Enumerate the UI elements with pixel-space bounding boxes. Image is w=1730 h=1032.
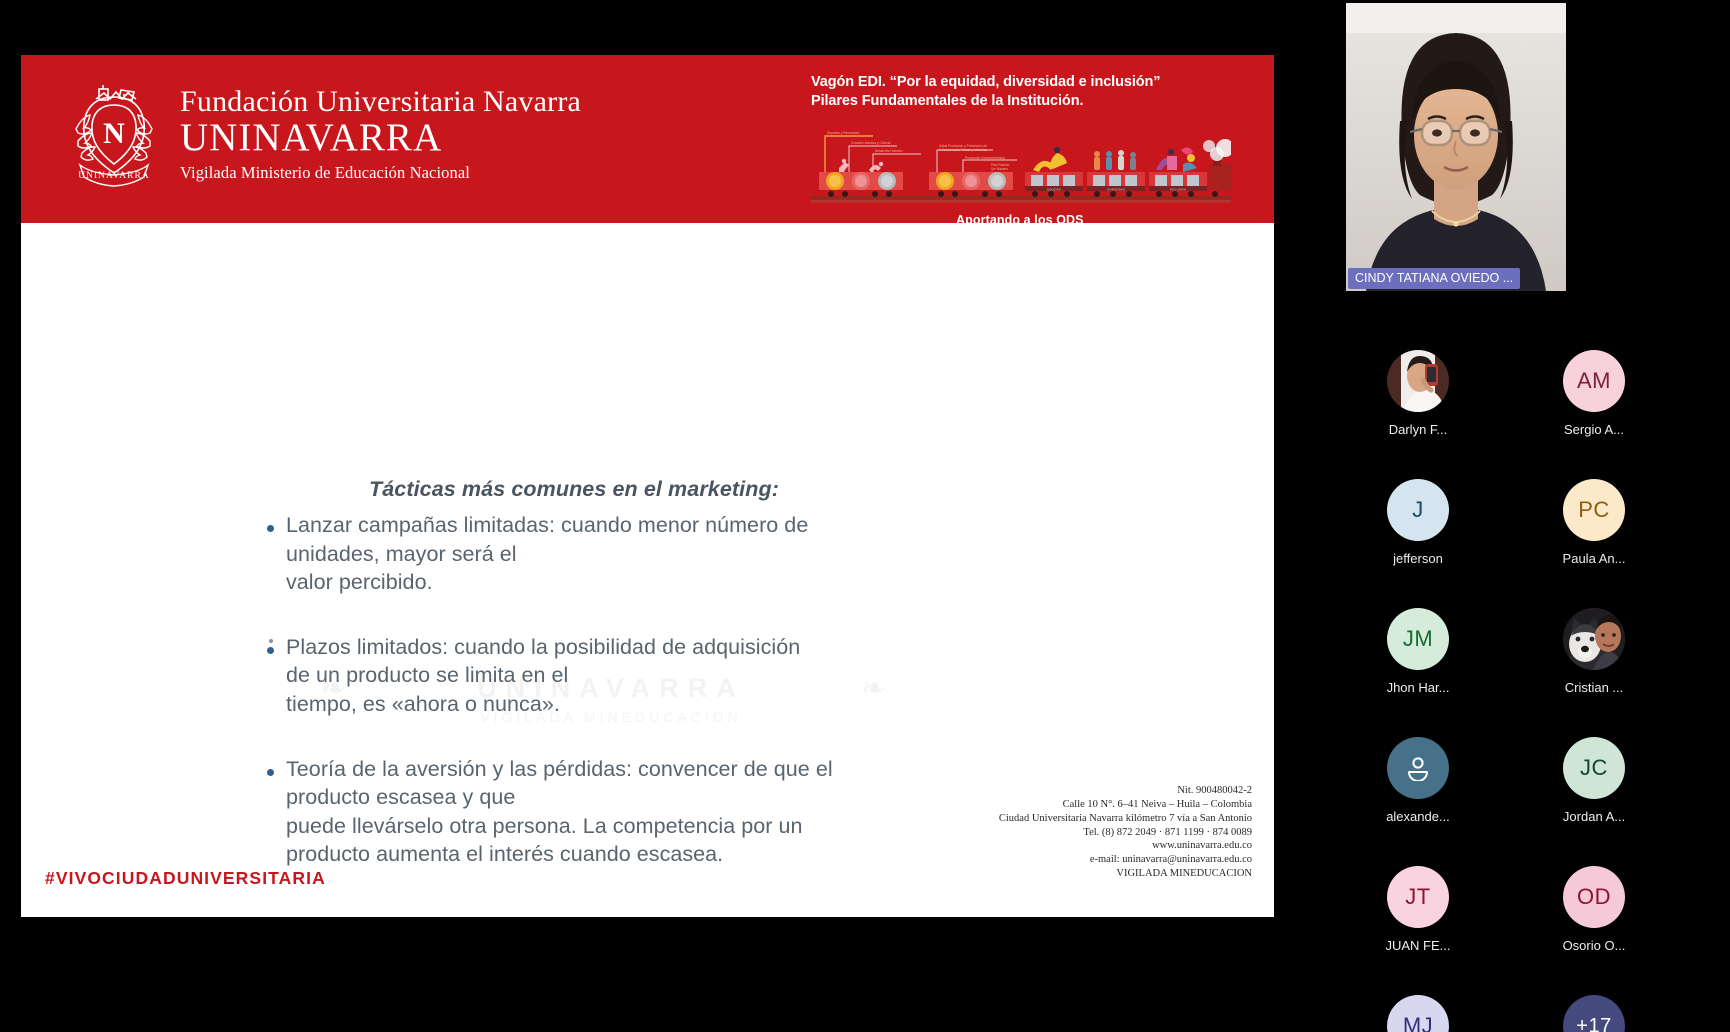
ods-label: Aportando a los ODS (956, 213, 1084, 223)
avatar-initials: MJ (1403, 1013, 1433, 1032)
participant-tile-jhon[interactable]: JM Jhon Har... (1356, 608, 1480, 695)
bullet-item: Lanzar campañas limitadas: cuando menor … (267, 511, 1167, 597)
bullet-line: tiempo, es «ahora o nunca». (286, 690, 800, 719)
participant-tile-juan[interactable]: JT JUAN FE... (1356, 866, 1480, 953)
active-speaker-tile[interactable] (1346, 3, 1566, 291)
avatar: JC (1563, 737, 1625, 799)
svg-text:Promoción Socioeconómica: Promoción Socioeconómica (965, 156, 1005, 160)
participant-tile-mosquera[interactable]: MJ Mosquer... (1356, 995, 1480, 1032)
avatar (1563, 608, 1625, 670)
participant-name: Osorio O... (1563, 938, 1626, 953)
participant-tile-alexander[interactable]: alexande... (1356, 737, 1480, 824)
participant-tile-jefferson[interactable]: J jefferson (1356, 479, 1480, 566)
participants-grid: Darlyn F... AM Sergio A... J jefferson P… (1356, 350, 1656, 1032)
svg-text:INCLUSIÓN: INCLUSIÓN (1170, 186, 1186, 191)
brand-text: Fundación Universitaria Navarra UNINAVAR… (180, 87, 581, 183)
avatar-initials: JM (1403, 626, 1433, 652)
shared-slide[interactable]: N UNINAVARRA Funda (21, 55, 1274, 917)
avatar: OD (1563, 866, 1625, 928)
footer-line: VIGILADA MINEDUCACION (999, 867, 1252, 881)
svg-text:Desarrollo Humano: Desarrollo Humano (875, 149, 903, 153)
bullet-line: Lanzar campañas limitadas: cuando menor … (286, 511, 808, 540)
avatar (1387, 737, 1449, 799)
crest-ribbon-label: UNINAVARRA (78, 171, 149, 181)
footer-line: Tel. (8) 872 2049 · 871 1199 · 874 0089 (999, 826, 1252, 840)
watermark-wing-left-icon: ❧ (321, 671, 346, 706)
participant-tile-cristian[interactable]: Cristian ... (1532, 608, 1656, 695)
avatar-initials: J (1412, 497, 1424, 523)
participant-name: Jhon Har... (1387, 680, 1450, 695)
bullet-line: Plazos limitados: cuando la posibilidad … (286, 633, 800, 662)
participant-tile-sergio[interactable]: AM Sergio A... (1532, 350, 1656, 437)
participant-name: Paula An... (1563, 551, 1626, 566)
brand-line-2: UNINAVARRA (180, 118, 581, 159)
avatar-overflow[interactable]: +17 (1563, 995, 1625, 1032)
campaign-hashtag: #VIVOCIUDADUNIVERSITARIA (45, 868, 326, 889)
svg-text:DIVERSIDAD: DIVERSIDAD (1107, 187, 1126, 191)
slide-content: Tácticas más comunes en el marketing: La… (21, 223, 1274, 917)
avatar-initials: JC (1580, 755, 1608, 781)
avatar-initials: JT (1405, 884, 1430, 910)
svg-text:N: N (103, 117, 125, 150)
footer-line: Nit. 900480042-2 (999, 784, 1252, 798)
participant-name: JUAN FE... (1385, 938, 1450, 953)
participant-tile-osorio[interactable]: OD Osorio O... (1532, 866, 1656, 953)
bullet-line: de un producto se limita en el (286, 661, 800, 690)
participant-name: Darlyn F... (1389, 422, 1448, 437)
university-crest-icon: N UNINAVARRA (66, 83, 162, 187)
bullet-line: unidades, mayor será el (286, 540, 808, 569)
footer-line: e-mail: uninavarra@uninavarra.edu.co (999, 853, 1252, 867)
avatar (1387, 350, 1449, 412)
footer-line: Calle 10 N°. 6–41 Neiva – Huila – Colomb… (999, 798, 1252, 812)
bullet-dot-icon (267, 525, 274, 532)
footer-contact-block: Nit. 900480042-2 Calle 10 N°. 6–41 Neiva… (999, 784, 1252, 881)
slide-banner: N UNINAVARRA Funda (21, 55, 1274, 223)
edi-title-line-1: Vagón EDI. “Por la equidad, diversidad e… (811, 73, 1251, 92)
participant-name: alexande... (1386, 809, 1450, 824)
participant-tile-paula[interactable]: PC Paula An... (1532, 479, 1656, 566)
avatar-initials: PC (1578, 497, 1610, 523)
bullet-line: puede llevárselo otra persona. La compet… (286, 812, 833, 841)
institution-branding: N UNINAVARRA Funda (66, 83, 581, 187)
participant-name: Jordan A... (1563, 809, 1625, 824)
person-silhouette-icon (1405, 755, 1431, 781)
edi-campaign-block: Vagón EDI. “Por la equidad, diversidad e… (811, 73, 1251, 215)
brand-line-3: Vigilada Ministerio de Educación Naciona… (180, 162, 581, 183)
avatar-initials: OD (1577, 884, 1611, 910)
participant-tile-jordan[interactable]: JC Jordan A... (1532, 737, 1656, 824)
svg-text:Creación Artística y Cultural: Creación Artística y Cultural (851, 141, 891, 145)
edi-train-illustration-icon: Deportes y Recreación Creación Artística… (811, 120, 1231, 215)
participant-tile-overflow[interactable]: +17 (1532, 995, 1656, 1032)
avatar: PC (1563, 479, 1625, 541)
avatar: JT (1387, 866, 1449, 928)
bullet-item: Plazos limitados: cuando la posibilidad … (267, 633, 1167, 719)
slide-title: Tácticas más comunes en el marketing: (369, 477, 779, 502)
participant-name: Sergio A... (1564, 422, 1624, 437)
bullet-line: producto escasea y que (286, 783, 833, 812)
footer-line: www.uninavarra.edu.co (999, 839, 1252, 853)
trailing-bullet-dot-icon (269, 639, 273, 643)
avatar-initials: AM (1577, 368, 1611, 394)
svg-text:Deportes y Recreación: Deportes y Recreación (827, 131, 860, 135)
avatar: J (1387, 479, 1449, 541)
bullet-line: Teoría de la aversión y las pérdidas: co… (286, 755, 833, 784)
avatar: AM (1563, 350, 1625, 412)
svg-text:EQUIDAD: EQUIDAD (1047, 187, 1062, 191)
watermark-wing-right-icon: ❧ (861, 671, 886, 706)
participant-tile-darlyn[interactable]: Darlyn F... (1356, 350, 1480, 437)
avatar: MJ (1387, 995, 1449, 1032)
participants-panel: CINDY TATIANA OVIEDO ... Darlyn F. (1274, 0, 1730, 1032)
svg-text:Enfermedades Físicas y Mentale: Enfermedades Físicas y Mentales (939, 148, 987, 152)
participant-name: Cristian ... (1565, 680, 1624, 695)
bullet-line: producto aumenta el interés cuando escas… (286, 840, 833, 869)
edi-title-line-2: Pilares Fundamentales de la Institución. (811, 92, 1251, 111)
bullet-line: valor percibido. (286, 568, 808, 597)
bullet-dot-icon (267, 769, 274, 776)
brand-line-1: Fundación Universitaria Navarra (180, 87, 581, 118)
participant-name: jefferson (1393, 551, 1443, 566)
active-speaker-name-badge: CINDY TATIANA OVIEDO ... (1348, 268, 1520, 289)
overflow-count: +17 (1576, 1015, 1611, 1032)
footer-line: Ciudad Universitaria Navarra kilómetro 7… (999, 812, 1252, 826)
meeting-screen: N UNINAVARRA Funda (0, 0, 1730, 1032)
avatar: JM (1387, 608, 1449, 670)
bullet-dot-icon (267, 647, 274, 654)
active-speaker-video (1346, 3, 1566, 291)
